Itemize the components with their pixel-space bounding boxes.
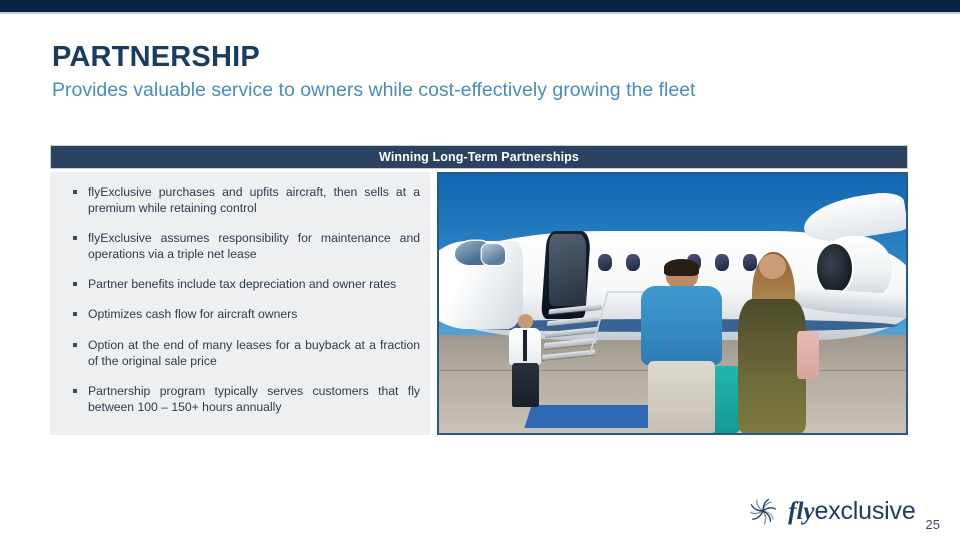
female-passenger-head [759, 254, 786, 279]
title-block: PARTNERSHIP Provides valuable service to… [52, 42, 912, 102]
brand-wordmark-exclusive: exclusive [815, 497, 916, 525]
pilot-figure [504, 314, 546, 407]
airstair-step [546, 326, 600, 337]
airstair-step [544, 338, 598, 349]
page-subtitle: Provides valuable service to owners whil… [52, 79, 912, 101]
pilot-trousers [512, 363, 539, 407]
cabin-window [626, 254, 640, 271]
cabin-window [598, 254, 612, 271]
pilot-tie [523, 330, 527, 362]
bullet-list: flyExclusive purchases and upfits aircra… [50, 184, 430, 415]
brand-wordmark: flyexclusive [788, 499, 915, 524]
top-accent-bar-shadow [0, 12, 960, 14]
airstair-step [547, 315, 601, 326]
jet-photo-illustration [439, 174, 906, 433]
cabin-door-panel [549, 234, 586, 307]
female-passenger-dress [738, 299, 806, 433]
pilot-head [518, 314, 533, 329]
list-item: flyExclusive purchases and upfits aircra… [50, 184, 430, 216]
list-item: Partner benefits include tax depreciatio… [50, 276, 430, 292]
male-passenger-figure [640, 262, 724, 433]
male-passenger-hair [664, 259, 699, 276]
male-passenger-shorts [648, 361, 715, 433]
page-title: PARTNERSHIP [52, 42, 912, 72]
page-number: 25 [926, 517, 940, 532]
male-passenger-shirt [641, 286, 722, 365]
list-item: Optimizes cash flow for aircraft owners [50, 306, 430, 322]
content-row: flyExclusive purchases and upfits aircra… [50, 172, 908, 435]
jet-photo [437, 172, 908, 435]
female-passenger-figure [733, 252, 812, 433]
list-item: Partnership program typically serves cus… [50, 383, 430, 415]
list-item: flyExclusive assumes responsibility for … [50, 230, 430, 262]
turbine-hub [762, 510, 764, 512]
brand-wordmark-fly: fly [788, 498, 814, 525]
section-banner: Winning Long-Term Partnerships [50, 145, 908, 169]
top-accent-bar [0, 0, 960, 12]
section-banner-label: Winning Long-Term Partnerships [379, 150, 579, 164]
bullet-panel: flyExclusive purchases and upfits aircra… [50, 172, 430, 435]
cockpit-window-secondary [482, 244, 505, 265]
turbine-swirl-icon [746, 494, 780, 528]
list-item: Option at the end of many leases for a b… [50, 337, 430, 369]
female-passenger-handbag [797, 331, 819, 378]
footer-brand: flyexclusive 25 [746, 494, 940, 528]
